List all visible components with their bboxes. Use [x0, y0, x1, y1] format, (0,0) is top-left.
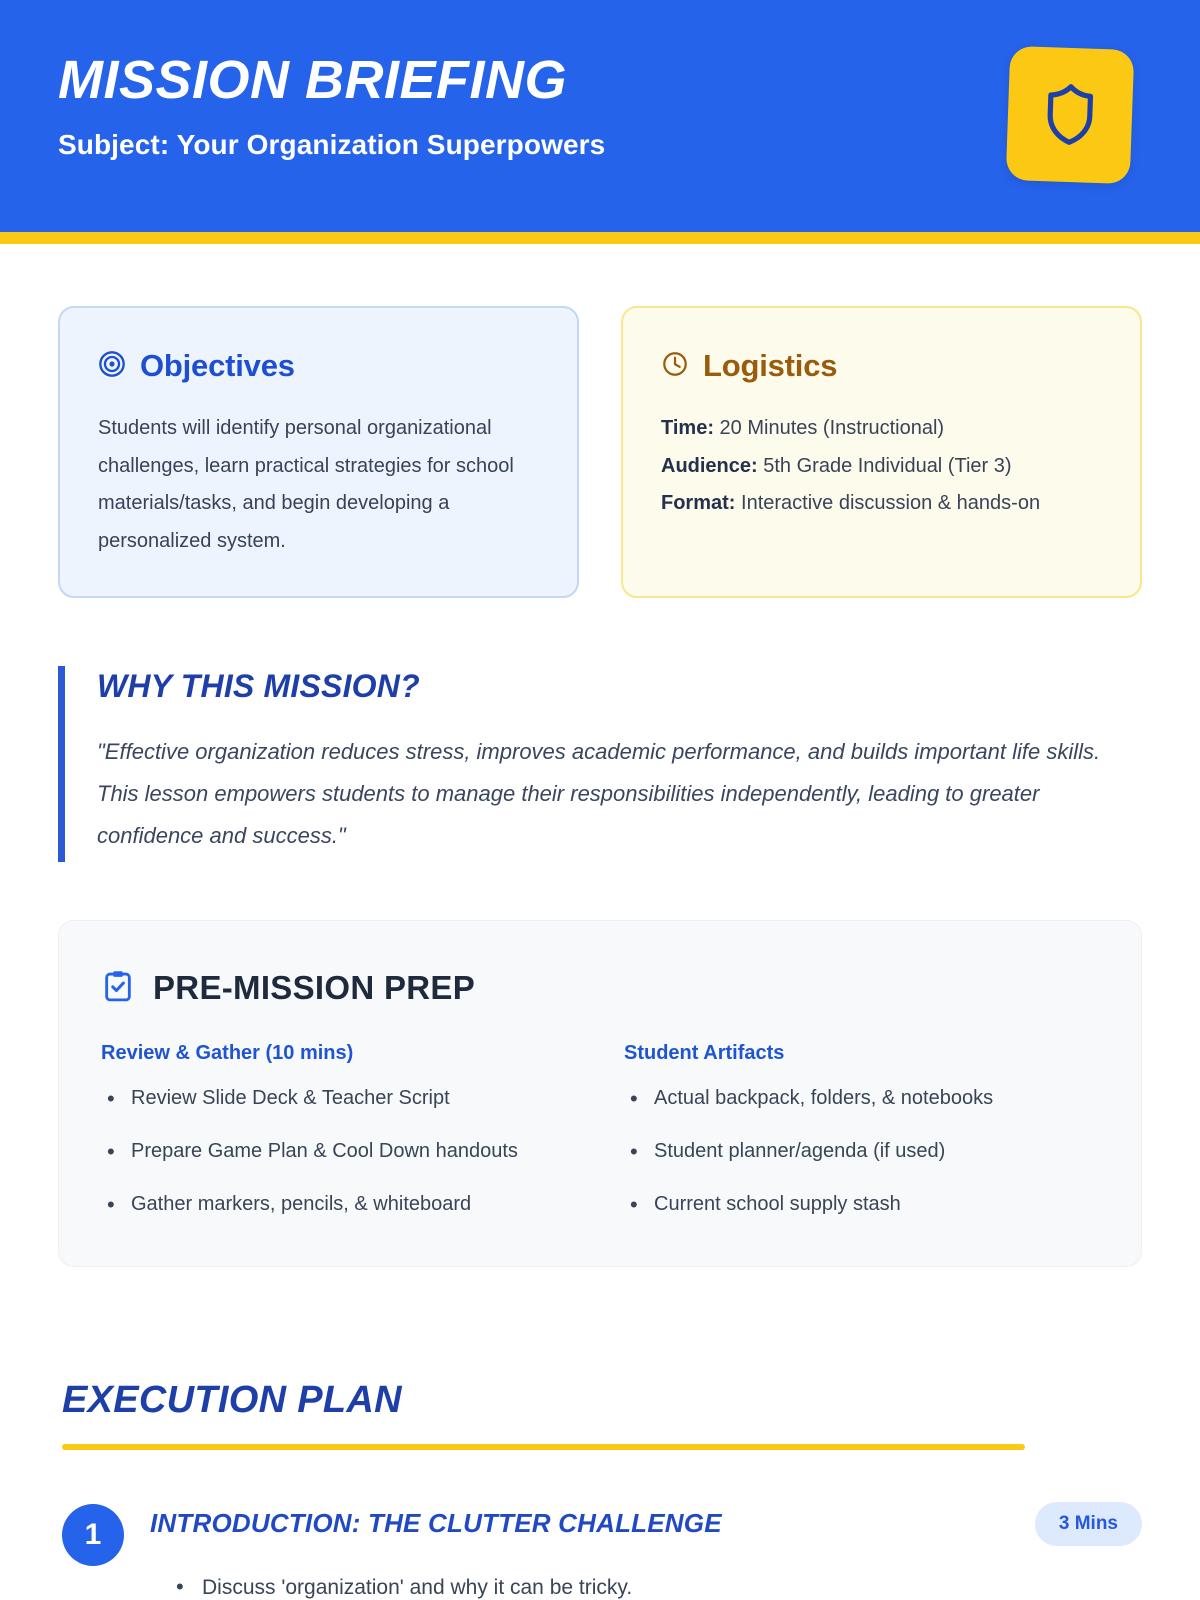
summary-card-row: Objectives Students will identify person…	[58, 306, 1142, 598]
prep-column-review-gather: Review & Gather (10 mins) Review Slide D…	[101, 1042, 576, 1220]
objectives-body: Students will identify personal organiza…	[98, 410, 539, 560]
list-item: Prepare Game Plan & Cool Down handouts	[101, 1136, 576, 1167]
page-subtitle: Subject: Your Organization Superpowers	[58, 129, 1140, 161]
step-duration-badge: 3 Mins	[1035, 1502, 1142, 1546]
logistics-row-label: Format:	[661, 492, 735, 514]
execution-step: 1 INTRODUCTION: THE CLUTTER CHALLENGE 3 …	[58, 1502, 1142, 1600]
page-title: MISSION BRIEFING	[58, 52, 1140, 109]
step-content: INTRODUCTION: THE CLUTTER CHALLENGE 3 Mi…	[150, 1502, 1142, 1600]
clock-icon	[661, 350, 689, 383]
step-list: Discuss 'organization' and why it can be…	[150, 1572, 1142, 1600]
pre-mission-prep-card: PRE-MISSION PREP Review & Gather (10 min…	[58, 920, 1142, 1267]
logistics-row: Time: 20 Minutes (Instructional)	[661, 410, 1102, 448]
logistics-card: Logistics Time: 20 Minutes (Instructiona…	[621, 306, 1142, 598]
execution-plan-rule	[62, 1444, 1025, 1450]
list-item: Student planner/agenda (if used)	[624, 1136, 1099, 1167]
logistics-rows: Time: 20 Minutes (Instructional) Audienc…	[661, 410, 1102, 523]
logistics-row-label: Audience:	[661, 455, 758, 477]
prep-column-title: Review & Gather (10 mins)	[101, 1042, 576, 1065]
logistics-row-value: 5th Grade Individual (Tier 3)	[763, 455, 1011, 477]
header-accent-rule	[0, 232, 1200, 244]
page-content: Objectives Students will identify person…	[0, 306, 1200, 1600]
page-header: MISSION BRIEFING Subject: Your Organizat…	[0, 0, 1200, 232]
logistics-row-value: 20 Minutes (Instructional)	[720, 417, 945, 439]
objectives-card: Objectives Students will identify person…	[58, 306, 579, 598]
why-mission-quote: "Effective organization reduces stress, …	[97, 731, 1142, 858]
pre-mission-prep-title: PRE-MISSION PREP	[153, 969, 475, 1007]
list-item: Discuss 'organization' and why it can be…	[172, 1572, 1142, 1600]
prep-column-student-artifacts: Student Artifacts Actual backpack, folde…	[624, 1042, 1099, 1220]
objectives-title: Objectives	[140, 348, 295, 384]
shield-icon	[1040, 81, 1100, 149]
logistics-row-label: Time:	[661, 417, 714, 439]
logistics-title: Logistics	[703, 348, 837, 384]
shield-badge	[1006, 46, 1135, 184]
logistics-card-header: Logistics	[661, 348, 1102, 384]
prep-column-title: Student Artifacts	[624, 1042, 1099, 1065]
pre-mission-prep-columns: Review & Gather (10 mins) Review Slide D…	[101, 1042, 1099, 1220]
why-mission-section: WHY THIS MISSION? "Effective organizatio…	[58, 666, 1142, 862]
prep-list: Actual backpack, folders, & notebooks St…	[624, 1083, 1099, 1220]
objectives-card-header: Objectives	[98, 348, 539, 384]
why-mission-title: WHY THIS MISSION?	[97, 668, 1142, 705]
prep-list: Review Slide Deck & Teacher Script Prepa…	[101, 1083, 576, 1220]
logistics-row: Format: Interactive discussion & hands-o…	[661, 485, 1102, 523]
clipboard-check-icon	[101, 969, 135, 1008]
pre-mission-prep-header: PRE-MISSION PREP	[101, 969, 1099, 1008]
execution-plan-title: EXECUTION PLAN	[58, 1379, 1142, 1422]
step-number-badge: 1	[62, 1504, 124, 1566]
step-title: INTRODUCTION: THE CLUTTER CHALLENGE	[150, 1508, 722, 1539]
execution-plan-section: EXECUTION PLAN 1 INTRODUCTION: THE CLUTT…	[58, 1379, 1142, 1600]
list-item: Current school supply stash	[624, 1189, 1099, 1220]
logistics-row: Audience: 5th Grade Individual (Tier 3)	[661, 448, 1102, 486]
target-icon	[98, 350, 126, 383]
mission-briefing-page: MISSION BRIEFING Subject: Your Organizat…	[0, 0, 1200, 1600]
list-item: Review Slide Deck & Teacher Script	[101, 1083, 576, 1114]
logistics-row-value: Interactive discussion & hands-on	[741, 492, 1040, 514]
list-item: Actual backpack, folders, & notebooks	[624, 1083, 1099, 1114]
list-item: Gather markers, pencils, & whiteboard	[101, 1189, 576, 1220]
step-header: INTRODUCTION: THE CLUTTER CHALLENGE 3 Mi…	[150, 1502, 1142, 1546]
